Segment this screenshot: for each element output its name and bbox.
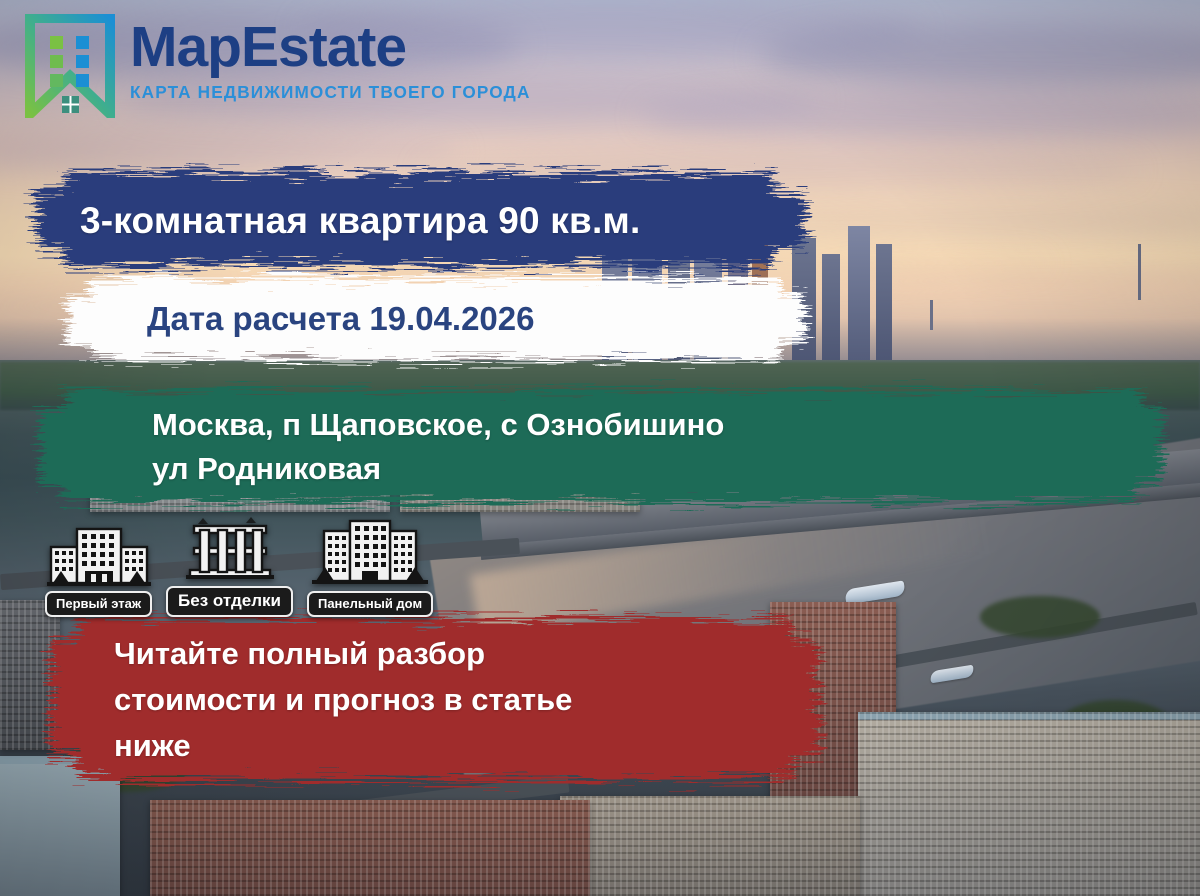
poster-canvas: MapEstate КАРТА НЕДВИЖИМОСТИ ТВОЕГО ГОРО… [0, 0, 1200, 896]
unfinished-building-frame-icon [180, 516, 280, 593]
panel-house-icon [312, 515, 428, 598]
cta-banner: Читайте полный разбор стоимости и прогно… [38, 604, 828, 794]
badge-panel-house[interactable]: Панельный дом [307, 515, 433, 617]
feature-badges: Первый этаж [45, 515, 433, 617]
foreground-building [560, 796, 860, 896]
date-text: Дата расчета 19.04.2026 [55, 298, 534, 338]
foreground-building [858, 712, 1200, 896]
badge-label: Панельный дом [307, 591, 433, 617]
brand-logo[interactable]: MapEstate КАРТА НЕДВИЖИМОСТИ ТВОЕГО ГОРО… [24, 14, 531, 118]
date-banner: Дата расчета 19.04.2026 [55, 266, 815, 370]
bookmark-house-icon [24, 14, 116, 118]
headline-banner: 3-комнатная квартира 90 кв.м. [18, 160, 818, 278]
brand-title: MapEstate [130, 20, 531, 76]
foreground-building [150, 800, 590, 896]
badge-label: Без отделки [166, 586, 293, 617]
address-line-2: ул Родниковая [152, 447, 724, 491]
badge-first-floor[interactable]: Первый этаж [45, 521, 152, 617]
address-line-1: Москва, п Щаповское, с Ознобишино [152, 403, 724, 447]
cta-text: Читайте полный разбор стоимости и прогно… [38, 629, 572, 769]
address-banner: Москва, п Щаповское, с Ознобишино ул Род… [30, 378, 1170, 512]
badge-label: Первый этаж [45, 591, 152, 617]
address-text: Москва, п Щаповское, с Ознобишино ул Род… [30, 399, 724, 491]
cta-line-1: Читайте полный разбор [114, 631, 572, 677]
cta-line-3: ниже [114, 723, 572, 769]
apartment-building-icon [47, 521, 151, 598]
headline-text: 3-комнатная квартира 90 кв.м. [18, 196, 640, 242]
brand-tagline: КАРТА НЕДВИЖИМОСТИ ТВОЕГО ГОРОДА [130, 82, 531, 103]
badge-no-finishing[interactable]: Без отделки [166, 516, 293, 617]
cta-line-2: стоимости и прогноз в статье [114, 677, 572, 723]
